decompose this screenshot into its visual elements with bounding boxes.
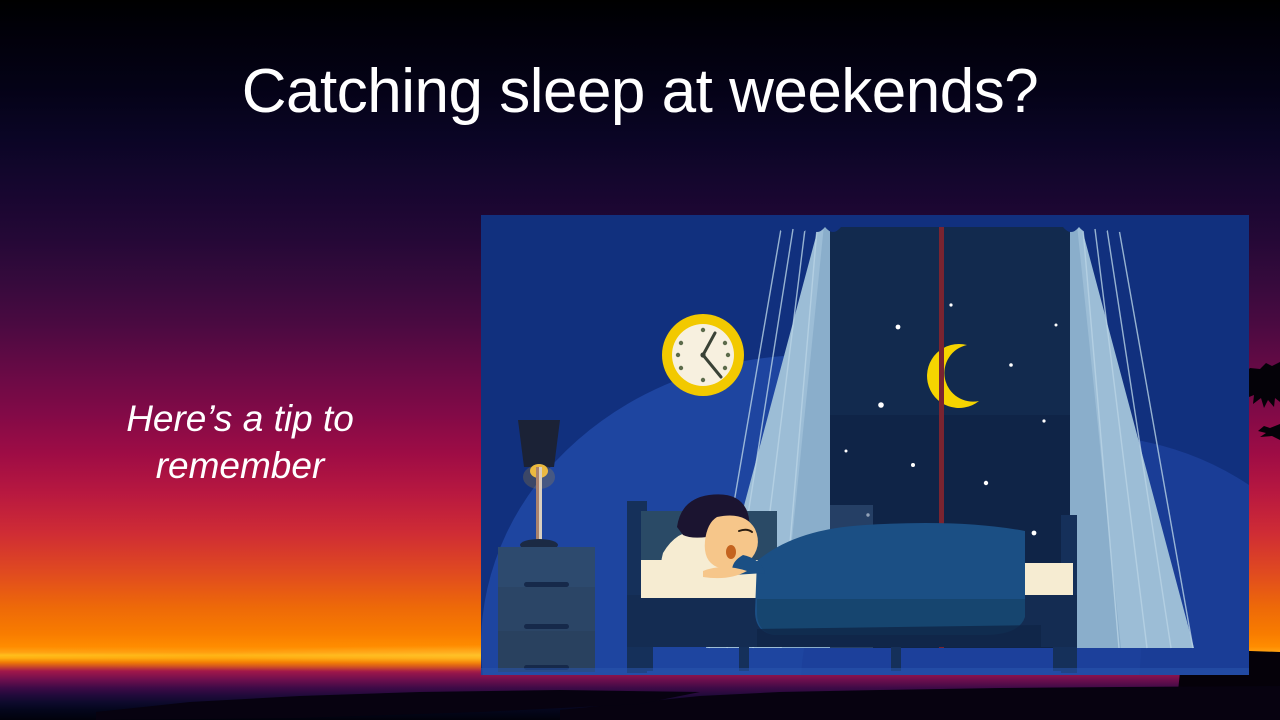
lamp-shade	[518, 420, 560, 467]
bed-leg-2	[739, 647, 749, 671]
floor-line	[481, 668, 1249, 675]
wall-clock	[662, 314, 744, 396]
drawer-handle-2	[524, 624, 569, 629]
nightstand-drawers	[498, 547, 595, 672]
bedroom-illustration	[481, 215, 1249, 675]
bed-leg-3	[891, 647, 901, 671]
clock-center-pin	[700, 352, 705, 357]
curtain-rod	[706, 219, 1196, 227]
drawer-handle-1	[524, 582, 569, 587]
person-mouth	[726, 545, 736, 559]
tip-body-text: Here’s a tip to remember	[40, 396, 440, 489]
drawer-1	[498, 547, 595, 587]
bed-leg-4	[1053, 647, 1063, 671]
presentation-slide: Catching sleep at weekends? Here’s a tip…	[0, 0, 1280, 720]
bedroom-night-scene-graphic	[481, 215, 1249, 675]
lamp-stem-shade	[536, 467, 539, 543]
bed-leg-1	[643, 647, 653, 671]
page-title: Catching sleep at weekends?	[0, 58, 1280, 126]
drawer-2	[498, 589, 595, 629]
